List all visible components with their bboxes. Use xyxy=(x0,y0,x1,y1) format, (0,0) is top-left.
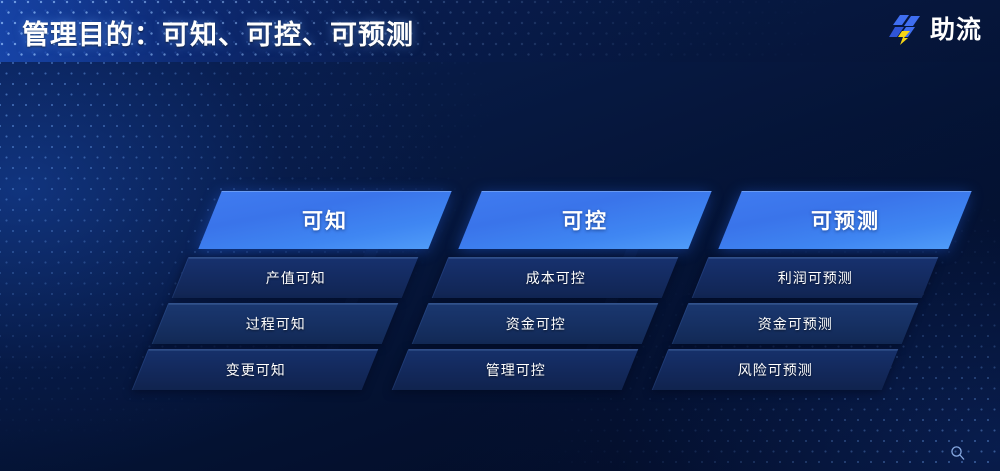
logo-text: 助流 xyxy=(930,18,982,43)
item-label: 利润可预测 xyxy=(778,268,853,288)
item-label: 产值可知 xyxy=(265,268,325,288)
brand-logo: 助流 xyxy=(889,14,982,46)
item-label: 成本可控 xyxy=(525,268,585,288)
item-label: 过程可知 xyxy=(245,314,305,334)
column-3-item-1[interactable]: 利润可预测 xyxy=(692,257,939,298)
column-3-item-2[interactable]: 资金可预测 xyxy=(672,303,919,344)
page-title: 管理目的：可知、可控、可预测 xyxy=(22,13,414,52)
slide-canvas: 管理目的：可知、可控、可预测 助流 可知 产值可知 过程可知 xyxy=(0,0,1000,471)
column-3-item-3[interactable]: 风险可预测 xyxy=(652,349,899,390)
column-1-item-3[interactable]: 变更可知 xyxy=(132,349,379,390)
magnifier-cursor-icon xyxy=(950,445,966,461)
parallelogram-diagram: 可知 产值可知 过程可知 变更可知 可控 成本可控 资金可控 管理可控 可预测 xyxy=(0,62,1000,471)
column-1-item-1[interactable]: 产值可知 xyxy=(172,257,419,298)
column-1-item-2[interactable]: 过程可知 xyxy=(152,303,399,344)
column-header-label: 可控 xyxy=(562,205,608,235)
lightning-bolt-icon xyxy=(889,14,923,46)
item-label: 管理可控 xyxy=(485,360,545,380)
column-header-label: 可知 xyxy=(302,205,348,235)
column-header-label: 可预测 xyxy=(811,205,880,235)
column-2-item-2[interactable]: 资金可控 xyxy=(412,303,659,344)
item-label: 资金可控 xyxy=(505,314,565,334)
column-header-2[interactable]: 可控 xyxy=(458,191,711,249)
column-2-item-3[interactable]: 管理可控 xyxy=(392,349,639,390)
column-2-item-1[interactable]: 成本可控 xyxy=(432,257,679,298)
item-label: 风险可预测 xyxy=(738,360,813,380)
column-header-3[interactable]: 可预测 xyxy=(718,191,971,249)
column-header-1[interactable]: 可知 xyxy=(198,191,451,249)
item-label: 资金可预测 xyxy=(758,314,833,334)
item-label: 变更可知 xyxy=(225,360,285,380)
slide-header: 管理目的：可知、可控、可预测 助流 xyxy=(0,0,1000,62)
